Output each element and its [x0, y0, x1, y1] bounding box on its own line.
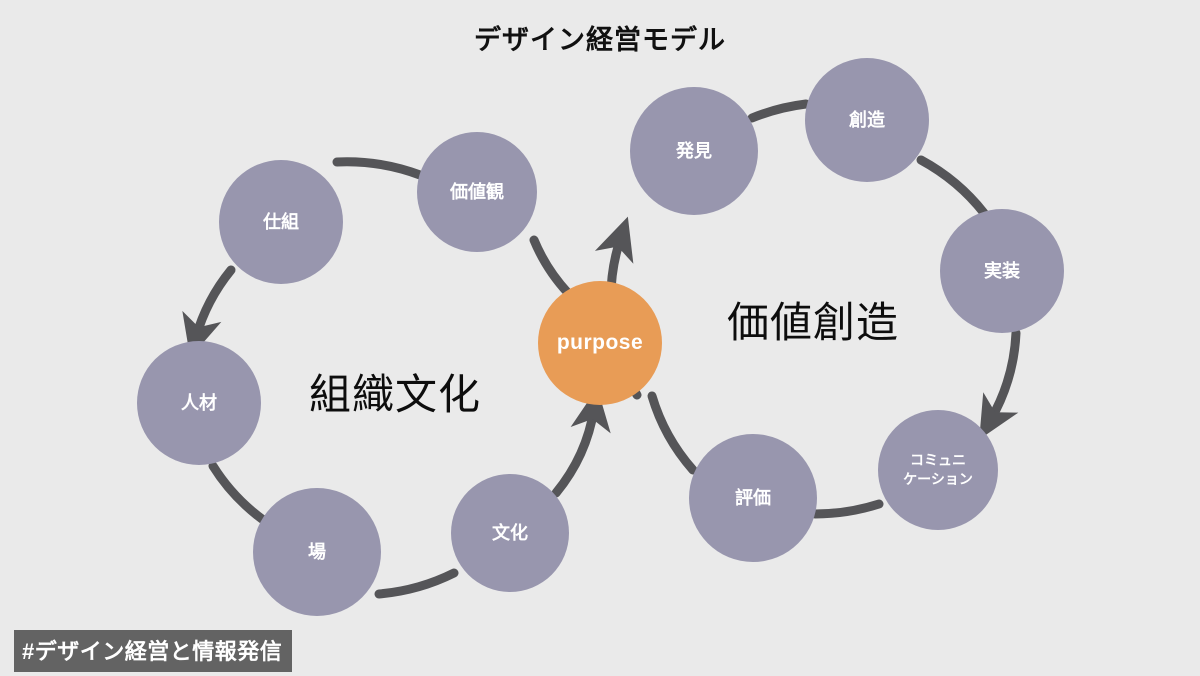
node-purpose[interactable]: purpose [538, 281, 662, 405]
node-bunka[interactable]: 文化 [451, 474, 569, 592]
connector-bunka-to-purpose [556, 409, 594, 493]
node-shikumi[interactable]: 仕組 [219, 160, 343, 284]
connector-souzou-to-jisou [921, 160, 984, 213]
node-ba[interactable]: 場 [253, 488, 381, 616]
connector-ba-to-bunka [379, 573, 454, 594]
node-hyouka-label: 評価 [735, 486, 771, 510]
node-communication-label: コミュニ ケーション [903, 451, 973, 489]
connector-hakken-to-souzou [752, 104, 806, 118]
node-purpose-label: purpose [557, 329, 643, 357]
node-communication[interactable]: コミュニ ケーション [878, 410, 998, 530]
connector-jinzai-to-ba [213, 466, 262, 519]
ring-heading-organizational-culture: 組織文化 [309, 361, 481, 422]
node-jisou-label: 実装 [984, 259, 1020, 283]
node-shikumi-label: 仕組 [263, 210, 299, 234]
node-jinzai[interactable]: 人材 [137, 341, 261, 465]
hashtag-badge: #デザイン経営と情報発信 [14, 630, 292, 672]
node-ba-label: 場 [308, 540, 326, 564]
node-hyouka[interactable]: 評価 [689, 434, 817, 562]
node-hakken-label: 発見 [676, 139, 712, 163]
node-jisou[interactable]: 実装 [940, 209, 1064, 333]
connector-communication-to-hyouka [815, 504, 879, 514]
connector-kachikan-to-shikumi [337, 162, 420, 175]
node-bunka-label: 文化 [492, 521, 528, 545]
node-kachikan[interactable]: 価値観 [417, 132, 537, 252]
node-souzou-label: 創造 [849, 108, 885, 132]
ring-heading-value-creation: 価値創造 [727, 289, 899, 350]
connector-shikumi-to-jinzai [196, 270, 231, 337]
node-hakken[interactable]: 発見 [630, 87, 758, 215]
connector-jisou-to-communication [990, 333, 1016, 421]
node-souzou[interactable]: 創造 [805, 58, 929, 182]
node-communication-line-1: コミュニ [903, 451, 973, 470]
node-communication-line-2: ケーション [903, 470, 973, 489]
node-jinzai-label: 人材 [181, 391, 217, 415]
connector-purpose-to-kachikan [534, 240, 568, 293]
slide-canvas: デザイン経営モデル 組織文化 価値創造 [0, 0, 1200, 676]
node-kachikan-label: 価値観 [450, 180, 504, 204]
connector-hyouka-to-purpose [652, 396, 693, 470]
